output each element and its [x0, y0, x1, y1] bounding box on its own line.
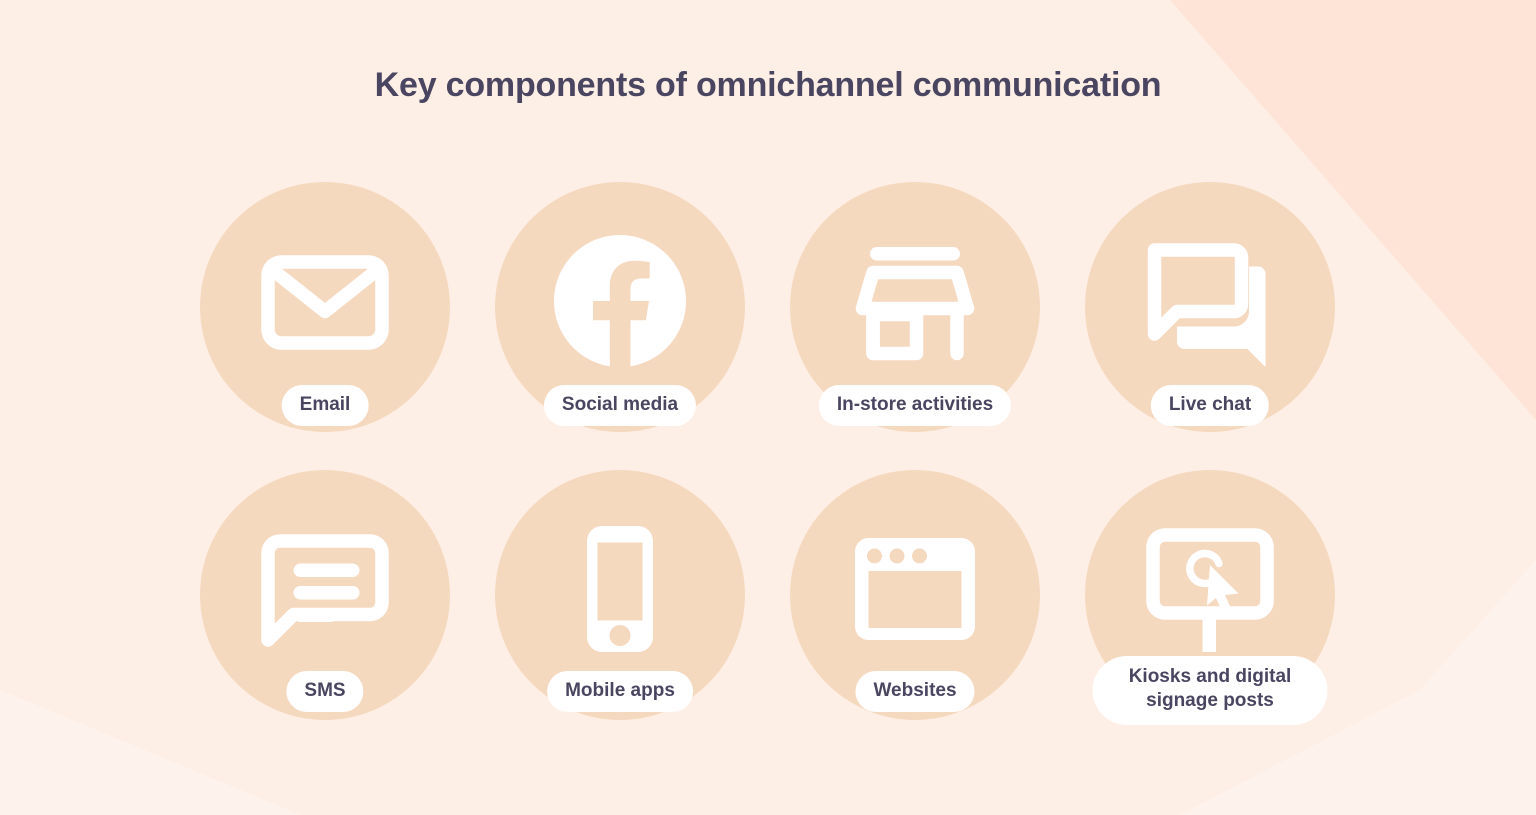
channel-label-email: Email: [282, 385, 369, 426]
channel-label-kiosks: Kiosks and digital signage posts: [1093, 656, 1328, 725]
page-title: Key components of omnichannel communicat…: [0, 66, 1536, 105]
smartphone-icon: [545, 514, 695, 664]
channel-card-in-store[interactable]: In-store activities: [790, 182, 1040, 432]
envelope-icon: [250, 226, 400, 376]
chat-bubbles-icon: [1135, 226, 1285, 376]
channel-card-email[interactable]: Email: [200, 182, 450, 432]
message-lines-icon: [250, 514, 400, 664]
channel-label-websites: Websites: [855, 671, 974, 712]
channel-label-social-media: Social media: [544, 385, 696, 426]
channel-label-in-store: In-store activities: [819, 385, 1011, 426]
kiosk-cursor-icon: [1135, 514, 1285, 664]
channel-label-live-chat: Live chat: [1151, 385, 1269, 426]
channel-card-websites[interactable]: Websites: [790, 470, 1040, 720]
facebook-icon: [545, 226, 695, 376]
channel-card-sms[interactable]: SMS: [200, 470, 450, 720]
storefront-icon: [840, 226, 990, 376]
channel-card-social-media[interactable]: Social media: [495, 182, 745, 432]
channel-card-kiosks[interactable]: Kiosks and digital signage posts: [1085, 470, 1335, 720]
channel-label-mobile-apps: Mobile apps: [547, 671, 693, 712]
channel-label-sms: SMS: [286, 671, 363, 712]
channel-card-mobile-apps[interactable]: Mobile apps: [495, 470, 745, 720]
infographic-canvas: Key components of omnichannel communicat…: [0, 0, 1536, 815]
channel-card-live-chat[interactable]: Live chat: [1085, 182, 1335, 432]
browser-window-icon: [840, 514, 990, 664]
